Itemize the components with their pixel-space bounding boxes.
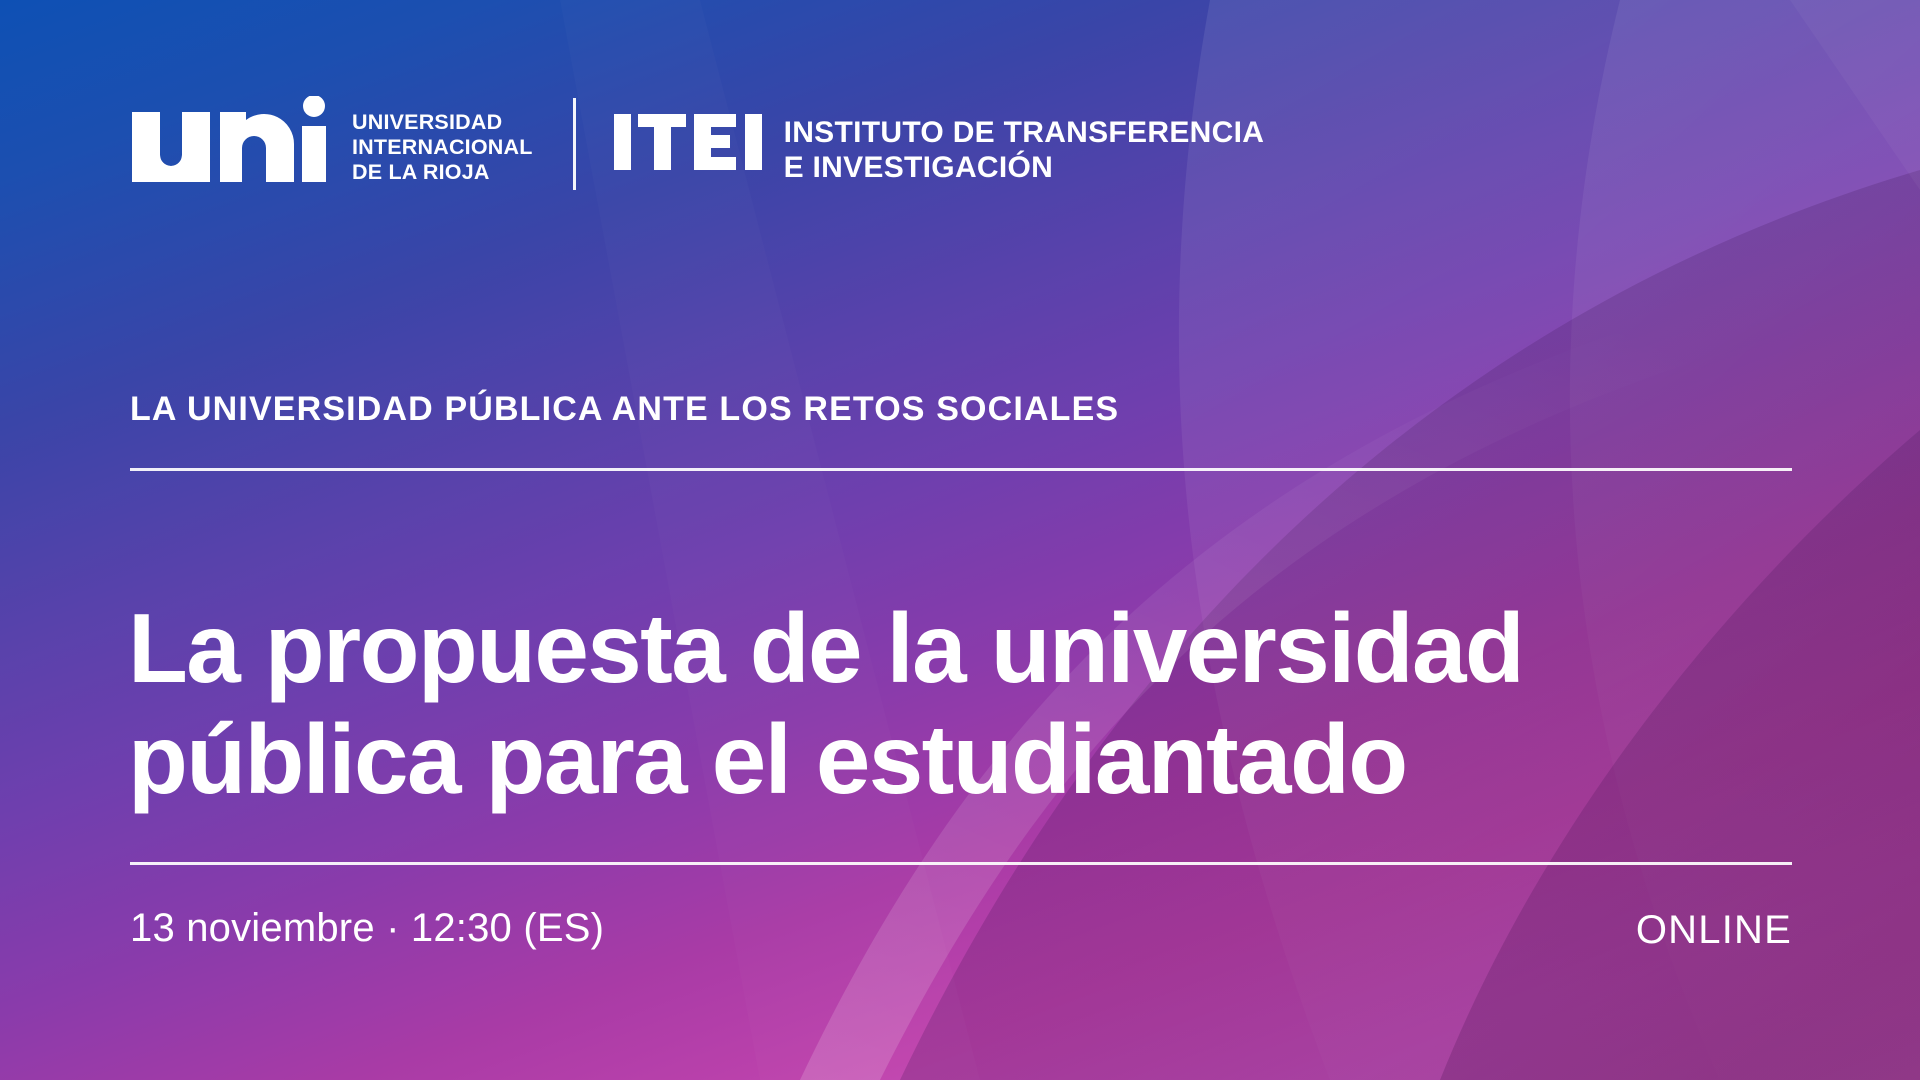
itei-descriptor: INSTITUTO DE TRANSFERENCIA E INVESTIGACI… bbox=[784, 114, 1265, 186]
logo-lockup: UNIVERSIDAD INTERNACIONAL DE LA RIOJA bbox=[128, 96, 1264, 192]
rule-top bbox=[130, 468, 1792, 471]
headline-line-1: La propuesta de la universidad bbox=[128, 593, 1808, 705]
banner-content: UNIVERSIDAD INTERNACIONAL DE LA RIOJA bbox=[0, 0, 1920, 1080]
kicker-text: LA UNIVERSIDAD PÚBLICA ANTE LOS RETOS SO… bbox=[130, 392, 1119, 426]
page-title: La propuesta de la universidad pública p… bbox=[128, 593, 1808, 816]
event-banner: UNIVERSIDAD INTERNACIONAL DE LA RIOJA bbox=[0, 0, 1920, 1080]
headline-line-2: pública para el estudiantado bbox=[128, 704, 1808, 816]
event-datetime: 13 noviembre · 12:30 (ES) bbox=[130, 908, 604, 948]
itei-wordmark-icon bbox=[614, 114, 766, 175]
event-modality: ONLINE bbox=[1636, 910, 1792, 950]
unir-logo: UNIVERSIDAD INTERNACIONAL DE LA RIOJA bbox=[128, 96, 533, 187]
unir-wordmark-icon bbox=[128, 96, 336, 187]
itei-logo: INSTITUTO DE TRANSFERENCIA E INVESTIGACI… bbox=[614, 96, 1265, 186]
logo-divider bbox=[573, 98, 576, 190]
rule-bottom bbox=[130, 862, 1792, 865]
unir-descriptor: UNIVERSIDAD INTERNACIONAL DE LA RIOJA bbox=[352, 110, 533, 187]
